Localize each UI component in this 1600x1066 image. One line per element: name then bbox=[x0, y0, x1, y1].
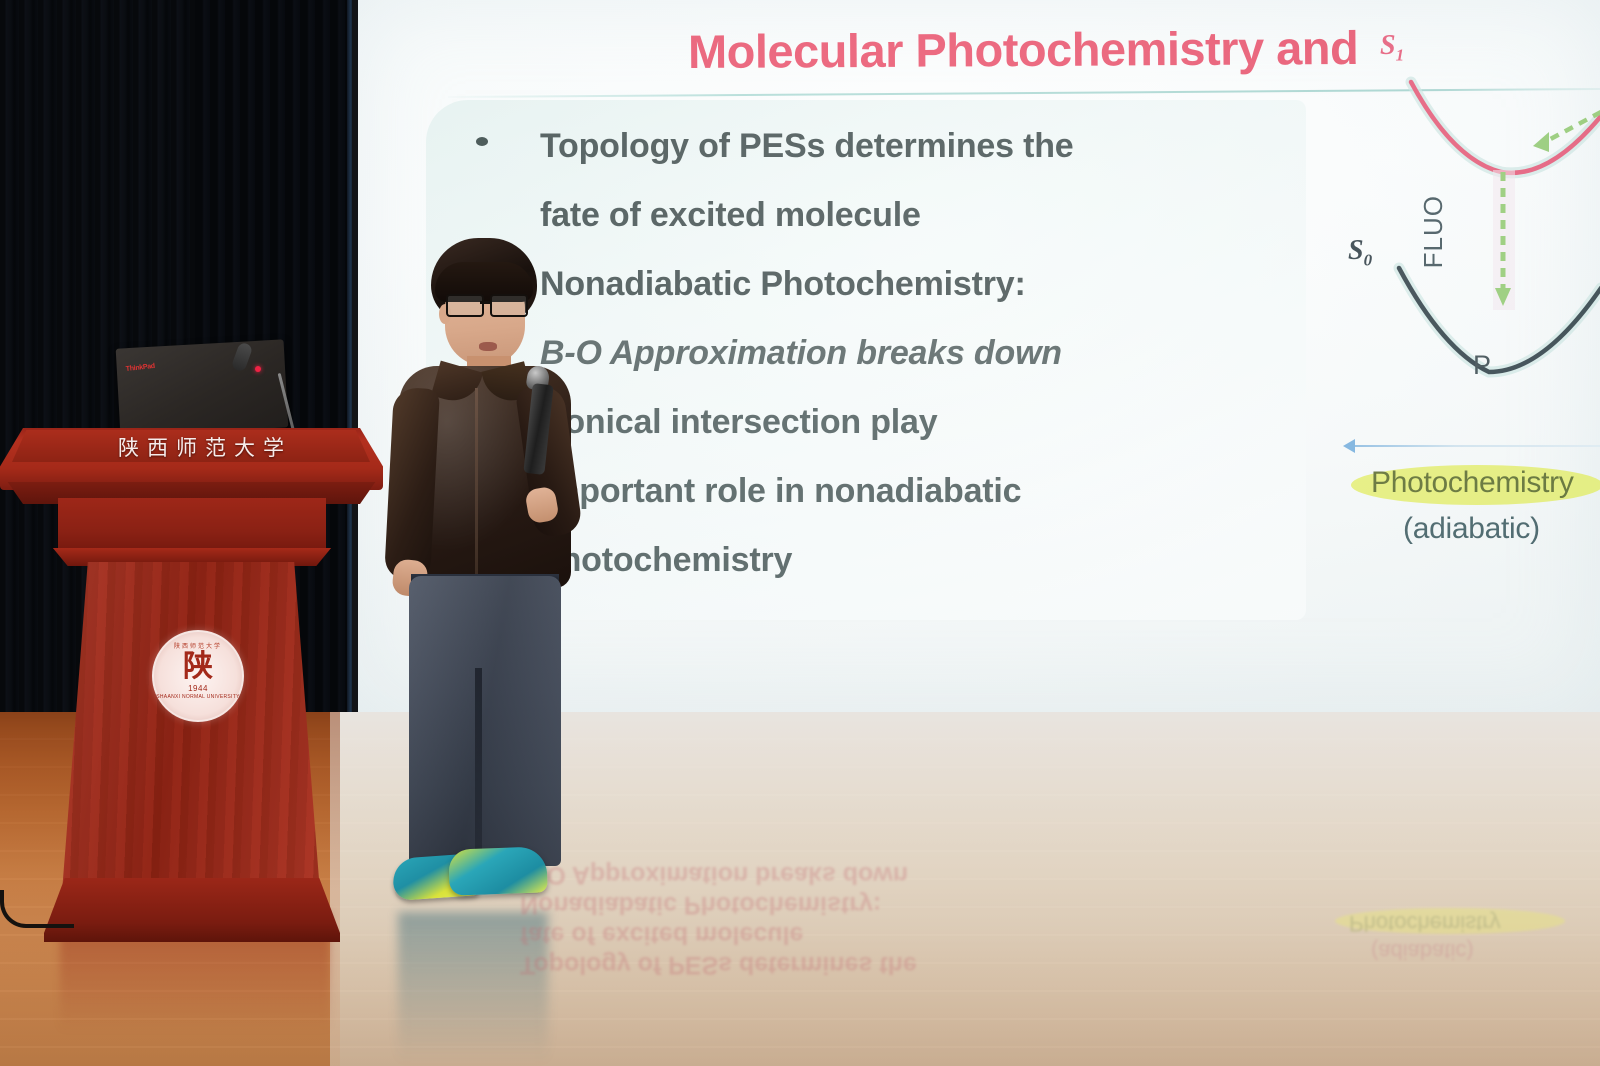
caption-reflection-secondary: (adiabatic) bbox=[1371, 938, 1474, 964]
university-emblem: 陕西师范大学 陕 1944 SHAANXI NORMAL UNIVERSITY bbox=[152, 630, 244, 722]
slide-body-line: Topology of PESs determines the bbox=[540, 112, 1300, 181]
pes-curves-svg bbox=[1333, 20, 1600, 460]
thinkpad-logo: ThinkPad bbox=[125, 363, 155, 373]
speaker-mouth bbox=[479, 342, 497, 351]
slide-body-text: Topology of PESs determines the fate of … bbox=[540, 112, 1300, 595]
caption-reflection: Photochemistry (adiabatic) bbox=[1335, 862, 1585, 972]
caption-reflection-primary: Photochemistry bbox=[1349, 910, 1501, 936]
caption-adiabatic: (adiabatic) bbox=[1403, 512, 1540, 546]
label-product: P bbox=[1473, 350, 1491, 381]
glasses-lens-left bbox=[446, 294, 484, 317]
reaction-coordinate-axis bbox=[1351, 445, 1600, 447]
slide-body-line: photochemistry bbox=[540, 526, 1300, 595]
laptop[interactable]: ThinkPad bbox=[116, 339, 289, 436]
slide-body-line: Nonadiabatic Photochemistry: bbox=[540, 250, 1300, 319]
slide-body-line: important role in nonadiabatic bbox=[540, 457, 1300, 526]
lectern-university-name-cn: 陕西师范大学 bbox=[118, 432, 348, 462]
lectern-base bbox=[44, 878, 340, 942]
emblem-center-character: 陕 bbox=[183, 652, 213, 682]
caption-photochemistry: Photochemistry bbox=[1371, 466, 1574, 500]
glasses-bridge bbox=[480, 301, 492, 304]
speaker-jeans bbox=[409, 576, 561, 866]
slide-body-line: B-O Approximation breaks down bbox=[540, 319, 1300, 388]
power-cable bbox=[0, 890, 74, 928]
reflected-line: Topology of PESs determines the bbox=[520, 950, 1140, 980]
speaker-glasses bbox=[445, 294, 529, 314]
emblem-ring-text-cn: 陕西师范大学 bbox=[174, 641, 222, 650]
label-fluorescence: FLUO bbox=[1418, 195, 1449, 268]
microphone-led-indicator bbox=[255, 366, 261, 372]
pes-diagram: S1 S0 FLUO P Photochemistry (adiabatic) bbox=[1333, 20, 1600, 620]
glasses-lens-right bbox=[490, 294, 528, 317]
reflected-line: B-O Approximation breaks down bbox=[520, 860, 1140, 890]
slide-body-line: Conical intersection play bbox=[540, 388, 1300, 457]
axis-left-arrow-icon bbox=[1343, 439, 1355, 453]
bullet-marker-icon bbox=[476, 137, 488, 146]
label-s1: S1 bbox=[1380, 30, 1404, 66]
label-s0: S0 bbox=[1348, 235, 1372, 271]
lectern: ThinkPad 陕西师范大学 陕西师范大学 陕 1944 SHAANXI NO… bbox=[0, 330, 400, 950]
speaker-shoe-right bbox=[448, 846, 548, 895]
presentation-photo: Molecular Photochemistry and Topology of… bbox=[0, 0, 1600, 1066]
emblem-ring-text-en: SHAANXI NORMAL UNIVERSITY bbox=[156, 694, 239, 700]
jacket-zipper bbox=[475, 388, 478, 584]
speaker bbox=[375, 238, 605, 928]
slide-text-reflection: Topology of PESs determines the fate of … bbox=[520, 860, 1140, 980]
emblem-founding-year: 1944 bbox=[188, 684, 208, 693]
slide-body-line: fate of excited molecule bbox=[540, 181, 1300, 250]
jeans-leg-gap bbox=[475, 668, 482, 868]
reflected-line: Nonadiabatic Photochemistry: bbox=[520, 890, 1140, 920]
reflected-line: fate of excited molecule bbox=[520, 920, 1140, 950]
lectern-column bbox=[62, 562, 320, 892]
lectern-neck bbox=[58, 498, 326, 554]
slide-title: Molecular Photochemistry and bbox=[688, 20, 1359, 79]
